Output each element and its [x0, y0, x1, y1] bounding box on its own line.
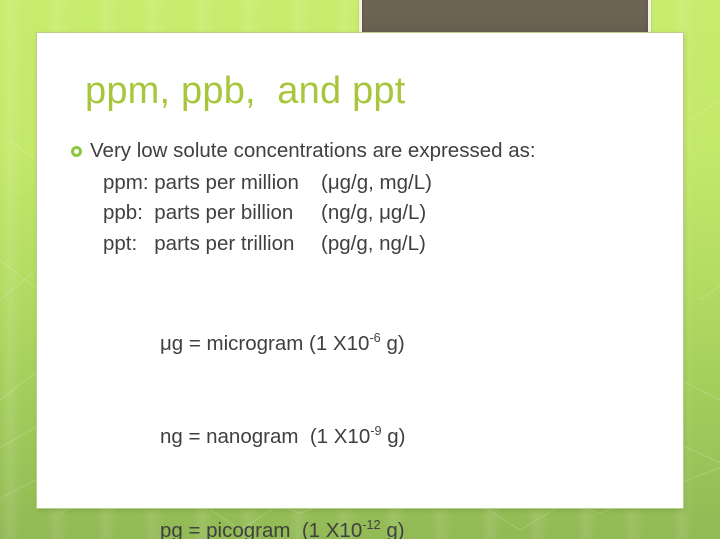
unit-definition-exponent: -12	[362, 517, 380, 532]
bullet-item-label: Very low solute concentrations are expre…	[90, 137, 536, 165]
unit-definition-suffix: g)	[381, 519, 405, 539]
unit-definition-suffix: g)	[382, 425, 406, 448]
definition-term: ppm: parts per million	[103, 168, 321, 198]
definition-units: (μg/g, mg/L)	[321, 168, 432, 198]
unit-definition-suffix: g)	[381, 332, 405, 355]
unit-definition-exponent: -6	[369, 330, 380, 345]
unit-definitions-list: μg = microgram (1 X10-6 g) ng = nanogram…	[103, 297, 667, 539]
definition-term: ppt: parts per trillion	[103, 229, 321, 259]
ring-bullet-icon	[71, 146, 82, 157]
unit-definition-row: pg = picogram (1 X10-12 g)	[103, 484, 667, 539]
definition-term: ppb: parts per billion	[103, 198, 321, 228]
definition-row: ppm: parts per million (μg/g, mg/L)	[103, 168, 667, 198]
slide-body: Very low solute concentrations are expre…	[57, 137, 667, 539]
unit-definition-exponent: -9	[370, 423, 381, 438]
presentation-slide: ppm, ppb, and ppt Very low solute concen…	[0, 0, 720, 539]
definition-units: (ng/g, μg/L)	[321, 198, 426, 228]
unit-definition-row: ng = nanogram (1 X10-9 g)	[103, 390, 667, 483]
bullet-list-item: Very low solute concentrations are expre…	[57, 137, 667, 165]
unit-definition-row: μg = microgram (1 X10-6 g)	[103, 297, 667, 390]
definition-row: ppb: parts per billion (ng/g, μg/L)	[103, 198, 667, 228]
unit-definition-prefix: μg = microgram (1 X10	[160, 332, 369, 355]
definition-units: (pg/g, ng/L)	[321, 229, 426, 259]
slide-content-panel: ppm, ppb, and ppt Very low solute concen…	[36, 32, 684, 509]
unit-definition-prefix: pg = picogram (1 X10	[160, 519, 362, 539]
concentration-definitions-list: ppm: parts per million (μg/g, mg/L) ppb:…	[103, 168, 667, 258]
slide-title: ppm, ppb, and ppt	[85, 71, 406, 113]
definition-row: ppt: parts per trillion (pg/g, ng/L)	[103, 229, 667, 259]
unit-definition-prefix: ng = nanogram (1 X10	[160, 425, 370, 448]
